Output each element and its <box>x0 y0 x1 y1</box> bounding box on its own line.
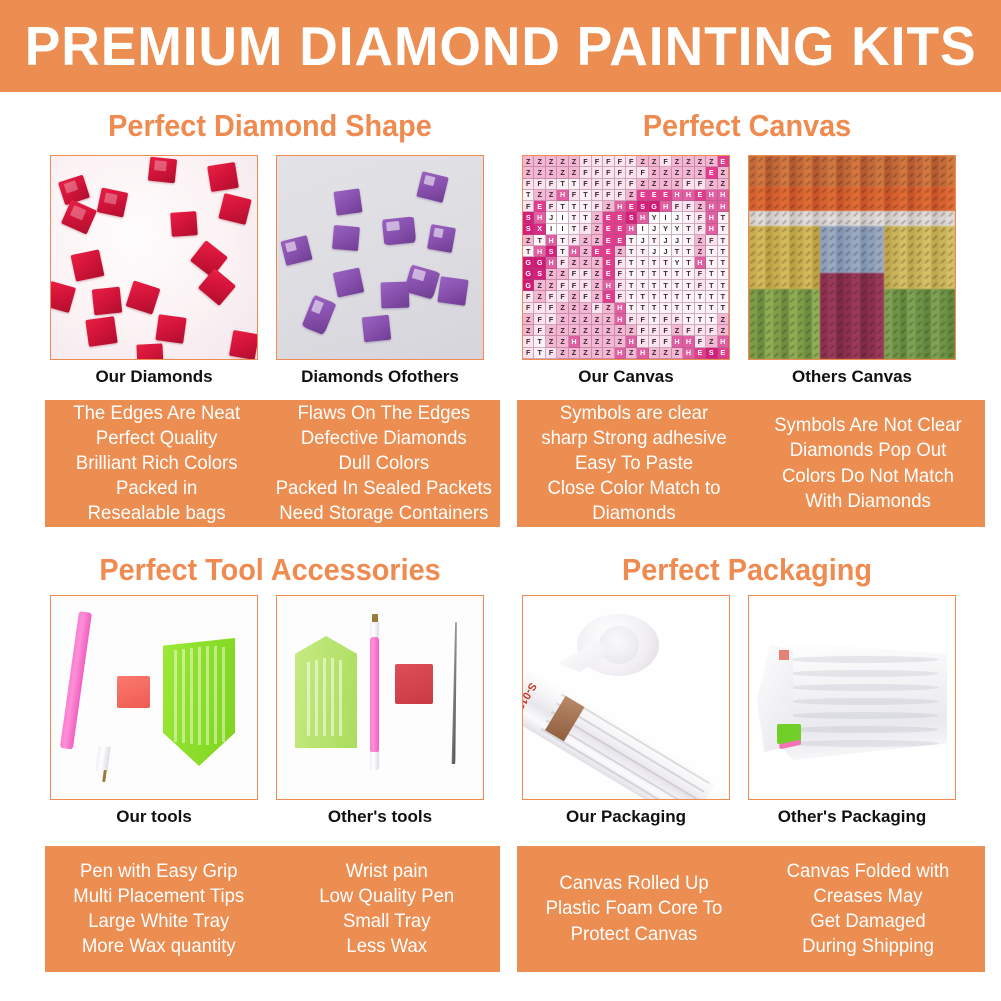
blurry-canvas-cell <box>900 242 908 250</box>
canvas-symbol-cell: Z <box>534 156 545 167</box>
blurry-canvas-cell <box>749 351 757 359</box>
canvas-symbol-cell: T <box>683 269 694 280</box>
blurry-canvas-cell <box>797 351 805 359</box>
panel-line: Diamonds <box>525 501 744 526</box>
blurry-canvas-cell <box>804 156 812 164</box>
blurry-canvas-cell <box>781 203 789 211</box>
canvas-symbol-cell: F <box>557 280 568 291</box>
canvas-symbol-cell: Z <box>580 348 591 359</box>
blurry-canvas-cell <box>749 242 757 250</box>
canvas-symbol-cell: T <box>672 291 683 302</box>
blurry-canvas-cell <box>884 203 892 211</box>
photo-our-canvas: ZZZZZFFFFFZZFZZZZEZZZZZFFFFFFZZZZZEZFFFT… <box>522 155 730 360</box>
blurry-canvas-cell <box>836 164 844 172</box>
canvas-symbol-cell: Z <box>546 280 557 291</box>
blurry-canvas-cell <box>907 203 915 211</box>
canvas-symbol-cell: Z <box>592 269 603 280</box>
canvas-symbol-cell: Z <box>603 336 614 347</box>
blurry-canvas-cell <box>812 351 820 359</box>
blurry-canvas-cell <box>868 242 876 250</box>
canvas-symbol-cell: E <box>603 212 614 223</box>
blurry-canvas-cell <box>773 164 781 172</box>
blurry-canvas-cell <box>773 172 781 180</box>
blurry-canvas-cell <box>947 179 955 187</box>
canvas-symbol-cell: F <box>569 280 580 291</box>
blurry-canvas-cell <box>876 297 884 305</box>
caption-our-packaging: Our Packaging <box>522 807 730 827</box>
blurry-canvas-cell <box>884 343 892 351</box>
canvas-symbol-cell: E <box>706 167 717 178</box>
blurry-canvas-cell <box>749 265 757 273</box>
blurry-canvas-cell <box>781 289 789 297</box>
blurry-canvas-cell <box>931 172 939 180</box>
canvas-symbol-cell: S <box>523 212 534 223</box>
blurry-canvas-cell <box>931 351 939 359</box>
blurry-canvas-cell <box>947 211 955 219</box>
large-green-tray <box>163 638 235 766</box>
blurry-canvas-cell <box>860 211 868 219</box>
photo-other-tools <box>276 595 484 800</box>
blurry-canvas-cell <box>939 304 947 312</box>
blurry-canvas-cell <box>828 187 836 195</box>
blurry-canvas-cell <box>789 234 797 242</box>
canvas-symbol-cell: T <box>626 257 637 268</box>
blurry-canvas-cell <box>884 250 892 258</box>
blurry-canvas-cell <box>773 297 781 305</box>
blurry-canvas-cell <box>915 203 923 211</box>
blurry-canvas-cell <box>781 195 789 203</box>
blurry-canvas-cell <box>789 312 797 320</box>
canvas-symbol-cell: F <box>546 348 557 359</box>
blurry-canvas-cell <box>836 265 844 273</box>
canvas-symbol-cell: Z <box>672 156 683 167</box>
blurry-canvas-cell <box>828 320 836 328</box>
blurry-canvas-cell <box>915 195 923 203</box>
blurry-canvas-cell <box>900 265 908 273</box>
blurry-canvas-cell <box>789 172 797 180</box>
canvas-symbol-cell: F <box>615 269 626 280</box>
blurry-canvas-cell <box>797 336 805 344</box>
blurry-canvas-cell <box>812 312 820 320</box>
canvas-symbol-cell: Z <box>649 156 660 167</box>
blurry-canvas-cell <box>915 258 923 266</box>
blurry-canvas-cell <box>860 281 868 289</box>
blurry-canvas-cell <box>915 187 923 195</box>
blurry-canvas-cell <box>812 156 820 164</box>
canvas-symbol-cell: T <box>672 269 683 280</box>
canvas-symbol-cell: G <box>523 269 534 280</box>
blurry-canvas-cell <box>812 211 820 219</box>
blurry-canvas-cell <box>789 297 797 305</box>
canvas-symbol-cell: G <box>523 280 534 291</box>
canvas-symbol-cell: Z <box>695 201 706 212</box>
blurry-canvas-cell <box>900 250 908 258</box>
blurry-canvas-cell <box>876 226 884 234</box>
canvas-symbol-cell: F <box>580 167 591 178</box>
canvas-symbol-cell: F <box>695 179 706 190</box>
blurry-canvas-cell <box>868 218 876 226</box>
blurry-canvas-cell <box>907 304 915 312</box>
blurry-canvas-cell <box>804 281 812 289</box>
tube-body: S-011 <box>522 668 718 800</box>
blurry-canvas-cell <box>804 273 812 281</box>
blurry-canvas-cell <box>789 218 797 226</box>
canvas-symbol-cell: H <box>718 201 729 212</box>
blurry-canvas-cell <box>907 312 915 320</box>
canvas-symbol-cell: S <box>546 246 557 257</box>
canvas-symbol-cell: F <box>546 291 557 302</box>
canvas-symbol-cell: Z <box>603 314 614 325</box>
canvas-symbol-cell: J <box>660 246 671 257</box>
blurry-canvas-cell <box>876 336 884 344</box>
blurry-canvas-cell <box>852 211 860 219</box>
canvas-symbol-cell: Z <box>637 179 648 190</box>
blurry-canvas-cell <box>828 156 836 164</box>
blurry-canvas-cell <box>844 289 852 297</box>
blurry-canvas-cell <box>844 258 852 266</box>
canvas-symbol-cell: T <box>637 269 648 280</box>
canvas-symbol-cell: F <box>706 235 717 246</box>
canvas-symbol-cell: E <box>615 235 626 246</box>
blurry-canvas-cell <box>939 265 947 273</box>
blurry-canvas-cell <box>804 187 812 195</box>
blurry-canvas-cell <box>757 226 765 234</box>
blurry-canvas-cell <box>892 273 900 281</box>
blurry-canvas-cell <box>931 297 939 305</box>
blurry-canvas-cell <box>820 281 828 289</box>
other-pen-lower-clear <box>370 752 379 770</box>
blurry-canvas-cell <box>947 172 955 180</box>
canvas-symbol-cell: H <box>706 212 717 223</box>
caption-other-packaging: Other's Packaging <box>748 807 956 827</box>
blurry-canvas-cell <box>820 312 828 320</box>
blurry-canvas-cell <box>939 343 947 351</box>
blurry-canvas-cell <box>789 187 797 195</box>
blurry-canvas-cell <box>915 242 923 250</box>
canvas-symbol-cell: T <box>580 201 591 212</box>
blurry-canvas-cell <box>844 351 852 359</box>
canvas-symbol-cell: H <box>603 280 614 291</box>
blurry-canvas-cell <box>907 320 915 328</box>
blurry-canvas-cell <box>868 211 876 219</box>
blurry-canvas-cell <box>781 336 789 344</box>
canvas-symbol-cell: F <box>615 167 626 178</box>
blurry-canvas-cell <box>820 273 828 281</box>
canvas-symbol-cell: T <box>569 212 580 223</box>
blurry-canvas-cell <box>931 304 939 312</box>
pen-metal-tip <box>102 770 107 782</box>
panel-line: Resealable bags <box>52 501 260 526</box>
canvas-symbol-cell: Z <box>557 156 568 167</box>
blurry-canvas-cell <box>939 250 947 258</box>
blurry-canvas-cell <box>915 312 923 320</box>
blurry-canvas-cell <box>860 297 868 305</box>
canvas-symbol-cell: Z <box>718 314 729 325</box>
panel-line: Less Wax <box>280 934 492 959</box>
blurry-canvas-cell <box>812 273 820 281</box>
blurry-canvas-cell <box>907 218 915 226</box>
blurry-canvas-cell <box>797 258 805 266</box>
blurry-canvas-cell <box>757 195 765 203</box>
canvas-symbol-cell: Z <box>580 303 591 314</box>
panel-line: With Diamonds <box>759 489 978 514</box>
canvas-symbol-cell: H <box>615 201 626 212</box>
blurry-canvas-cell <box>876 343 884 351</box>
blurry-canvas-cell <box>828 211 836 219</box>
blurry-canvas-cell <box>852 304 860 312</box>
blurry-canvas-cell <box>900 343 908 351</box>
canvas-symbol-cell: Z <box>706 156 717 167</box>
blurry-canvas-cell <box>884 281 892 289</box>
canvas-symbol-cell: H <box>637 212 648 223</box>
blurry-canvas-cell <box>907 211 915 219</box>
caption-our-diamonds: Our Diamonds <box>50 367 258 387</box>
canvas-symbol-cell: F <box>615 179 626 190</box>
blurry-canvas-cell <box>804 218 812 226</box>
blurry-canvas-cell <box>765 265 773 273</box>
canvas-symbol-cell: F <box>592 167 603 178</box>
panel-line: Close Color Match to <box>525 476 744 501</box>
blurry-canvas-cell <box>773 234 781 242</box>
canvas-symbol-cell: H <box>683 336 694 347</box>
blurry-canvas-cell <box>812 258 820 266</box>
blurry-canvas-cell <box>836 211 844 219</box>
blurry-canvas-cell <box>773 289 781 297</box>
blurry-canvas-cell <box>884 273 892 281</box>
panel-line: Low Quality Pen <box>280 884 492 909</box>
canvas-symbol-cell: Z <box>626 348 637 359</box>
photo-other-packaging <box>748 595 956 800</box>
blurry-canvas-cell <box>844 281 852 289</box>
blurry-canvas-cell <box>923 312 931 320</box>
canvas-symbol-cell: I <box>546 224 557 235</box>
blurry-canvas-cell <box>749 164 757 172</box>
blurry-canvas-cell <box>860 328 868 336</box>
blurry-canvas-cell <box>931 328 939 336</box>
shipping-tube-scene: S-011 <box>523 596 729 799</box>
blurry-canvas-cell <box>836 343 844 351</box>
canvas-symbol-cell: F <box>683 325 694 336</box>
blurry-canvas-cell <box>749 297 757 305</box>
blurry-canvas-cell <box>860 343 868 351</box>
blurry-canvas-cell <box>828 258 836 266</box>
canvas-symbol-cell: Z <box>615 336 626 347</box>
panel-line: Packed in <box>52 476 260 501</box>
canvas-symbol-cell: T <box>626 291 637 302</box>
blurry-canvas-cell <box>892 250 900 258</box>
canvas-symbol-cell: H <box>637 348 648 359</box>
blurry-canvas-cell <box>836 297 844 305</box>
canvas-symbol-cell: S <box>534 269 545 280</box>
blurry-canvas-cell <box>781 273 789 281</box>
canvas-symbol-cell: T <box>557 235 568 246</box>
panel-line: sharp Strong adhesive <box>525 426 744 451</box>
blurry-canvas-cell <box>828 242 836 250</box>
blurry-canvas-cell <box>915 172 923 180</box>
blurry-canvas-cell <box>860 304 868 312</box>
blurry-canvas-cell <box>804 172 812 180</box>
blurry-canvas-cell <box>804 320 812 328</box>
canvas-symbol-cell: T <box>706 280 717 291</box>
blurry-canvas-cell <box>797 242 805 250</box>
blurry-canvas-cell <box>757 172 765 180</box>
blurry-canvas-cell <box>900 281 908 289</box>
blurry-canvas-cell <box>860 289 868 297</box>
canvas-symbol-cell: F <box>695 212 706 223</box>
caption-other-tools: Other's tools <box>276 807 484 827</box>
canvas-symbol-cell: F <box>592 156 603 167</box>
blurry-canvas-cell <box>836 281 844 289</box>
blurry-canvas-cell <box>765 304 773 312</box>
photo-others-canvas <box>748 155 956 360</box>
blurry-canvas-cell <box>789 203 797 211</box>
canvas-symbol-cell: Z <box>592 348 603 359</box>
blurry-canvas-cell <box>765 164 773 172</box>
blurry-canvas-cell <box>844 336 852 344</box>
blurry-canvas-cell <box>812 179 820 187</box>
blurry-canvas-cell <box>828 234 836 242</box>
canvas-symbol-cell: F <box>569 269 580 280</box>
panel-line: Brilliant Rich Colors <box>52 451 260 476</box>
blurry-canvas-cell <box>868 203 876 211</box>
panel-ours-tools: Pen with Easy GripMulti Placement TipsLa… <box>51 859 267 960</box>
blurry-canvas-cell <box>931 289 939 297</box>
blurry-canvas-cell <box>844 304 852 312</box>
other-tools-scene <box>277 596 483 799</box>
blurry-canvas-cell <box>773 351 781 359</box>
canvas-symbol-cell: F <box>546 314 557 325</box>
blurry-canvas-cell <box>900 156 908 164</box>
canvas-symbol-cell: F <box>534 179 545 190</box>
blurry-canvas-cell <box>836 289 844 297</box>
blurry-canvas-cell <box>915 179 923 187</box>
blurry-canvas-cell <box>931 195 939 203</box>
canvas-symbol-cell: T <box>626 269 637 280</box>
canvas-symbol-cell: T <box>718 280 729 291</box>
canvas-symbol-cell: Z <box>546 167 557 178</box>
blurry-canvas-cell <box>892 312 900 320</box>
blurry-canvas-cell <box>868 343 876 351</box>
section-title-diamond-shape: Perfect Diamond Shape <box>56 108 484 144</box>
blurry-canvas-cell <box>812 218 820 226</box>
blurry-canvas-cell <box>868 273 876 281</box>
mailer-red-mark <box>779 650 789 660</box>
blurry-canvas-cell <box>781 156 789 164</box>
canvas-symbol-cell: H <box>546 235 557 246</box>
blurry-canvas-cell <box>789 320 797 328</box>
blurry-canvas-cell <box>915 304 923 312</box>
blurry-canvas-cell <box>884 265 892 273</box>
blurry-canvas-cell <box>892 164 900 172</box>
blurry-canvas-cell <box>947 289 955 297</box>
canvas-symbol-cell: T <box>706 246 717 257</box>
blurry-canvas-cell <box>749 172 757 180</box>
blurry-canvas-cell <box>820 203 828 211</box>
blurry-canvas-cell <box>907 226 915 234</box>
panel-line: Creases May <box>759 884 978 909</box>
blurry-canvas-cell <box>781 351 789 359</box>
canvas-symbol-cell: E <box>626 201 637 212</box>
blurry-canvas-cell <box>765 343 773 351</box>
blurry-canvas-cell <box>828 226 836 234</box>
blurry-canvas-cell <box>923 320 931 328</box>
panel-line: Get Damaged <box>759 909 978 934</box>
blurry-canvas-cell <box>907 281 915 289</box>
blurry-canvas-cell <box>828 164 836 172</box>
canvas-symbol-cell: Y <box>672 257 683 268</box>
blurry-canvas-cell <box>797 250 805 258</box>
blurry-canvas-cell <box>836 320 844 328</box>
canvas-symbol-cell: Z <box>557 303 568 314</box>
blurry-canvas-cell <box>804 304 812 312</box>
canvas-symbol-cell: T <box>649 257 660 268</box>
blurry-canvas-cell <box>931 187 939 195</box>
canvas-symbol-cell: E <box>615 224 626 235</box>
blurry-canvas-cell <box>844 156 852 164</box>
blurry-canvas-cell <box>757 273 765 281</box>
blurry-canvas-cell <box>860 265 868 273</box>
blurry-canvas-cell <box>765 211 773 219</box>
canvas-symbol-cell: T <box>683 235 694 246</box>
blurry-canvas-cell <box>757 187 765 195</box>
canvas-symbol-cell: E <box>649 190 660 201</box>
blurry-canvas-cell <box>852 179 860 187</box>
canvas-symbol-cell: H <box>660 201 671 212</box>
blurry-canvas-cell <box>876 289 884 297</box>
canvas-symbol-cell: Z <box>718 325 729 336</box>
canvas-symbol-cell: F <box>546 179 557 190</box>
canvas-symbol-cell: E <box>718 348 729 359</box>
canvas-symbol-cell: Z <box>580 314 591 325</box>
canvas-symbol-cell: Z <box>569 348 580 359</box>
blurry-canvas-cell <box>884 289 892 297</box>
blurry-canvas-cell <box>931 218 939 226</box>
canvas-symbol-cell: Z <box>592 235 603 246</box>
blurry-canvas-cell <box>892 218 900 226</box>
blurry-canvas-cell <box>781 343 789 351</box>
canvas-symbol-cell: H <box>683 348 694 359</box>
red-drills-scene <box>51 156 257 359</box>
blurry-canvas-cell <box>892 226 900 234</box>
blurry-canvas-cell <box>939 218 947 226</box>
blurry-canvas-cell <box>844 273 852 281</box>
section-title-canvas: Perfect Canvas <box>528 108 965 144</box>
panel-line: Protect Canvas <box>525 922 744 947</box>
panel-line: Colors Do Not Match <box>759 464 978 489</box>
blurry-canvas-cell <box>773 156 781 164</box>
canvas-symbol-cell: F <box>695 325 706 336</box>
blurry-canvas-cell <box>812 328 820 336</box>
canvas-symbol-cell: Z <box>569 291 580 302</box>
blurry-canvas-cell <box>812 320 820 328</box>
canvas-symbol-cell: Y <box>660 224 671 235</box>
blurry-canvas-cell <box>884 156 892 164</box>
blurry-canvas-cell <box>876 234 884 242</box>
blurry-canvas-cell <box>947 351 955 359</box>
blurry-canvas-cell <box>915 164 923 172</box>
blurry-canvas-cell <box>876 179 884 187</box>
blurry-canvas-cell <box>773 328 781 336</box>
blurry-canvas-cell <box>804 312 812 320</box>
blurry-canvas-cell <box>892 258 900 266</box>
blurry-canvas-cell <box>915 281 923 289</box>
blurry-canvas-cell <box>781 187 789 195</box>
blurry-canvas-cell <box>836 218 844 226</box>
canvas-symbol-cell: H <box>695 257 706 268</box>
canvas-symbol-cell: T <box>683 314 694 325</box>
blurry-canvas-cell <box>907 297 915 305</box>
blurry-canvas-cell <box>789 336 797 344</box>
